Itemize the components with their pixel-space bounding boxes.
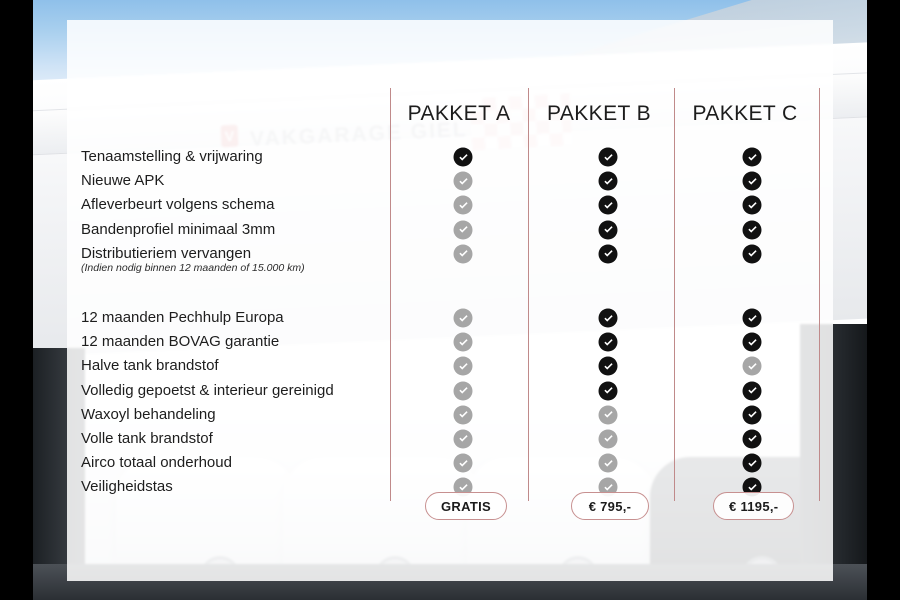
- check-circle-filled-icon: [599, 196, 618, 215]
- column-header-pakket-a: PAKKET A: [390, 102, 528, 126]
- column-header-pakket-b: PAKKET B: [530, 102, 668, 126]
- check-circle-muted-icon: [454, 172, 473, 191]
- check-circle-filled-icon: [743, 405, 762, 424]
- check-circle-muted-icon: [454, 196, 473, 215]
- check-circle-filled-icon: [743, 244, 762, 263]
- check-circle-filled-icon: [599, 244, 618, 263]
- check-circle-filled-icon: [599, 309, 618, 328]
- distributieriem-footnote: (Indien nodig binnen 12 maanden of 15.00…: [81, 262, 305, 274]
- table-row: Airco totaal onderhoud: [67, 451, 833, 475]
- table-row: Afleverbeurt volgens schema: [67, 193, 833, 217]
- check-circle-muted-icon: [454, 333, 473, 352]
- check-circle-filled-icon: [743, 220, 762, 239]
- price-row: GRATIS € 795,- € 1195,-: [67, 492, 833, 526]
- check-circle-filled-icon: [743, 333, 762, 352]
- check-circle-muted-icon: [599, 429, 618, 448]
- check-circle-filled-icon: [454, 148, 473, 167]
- feature-label: Waxoyl behandeling: [81, 403, 216, 427]
- check-circle-muted-icon: [454, 405, 473, 424]
- table-row: Volle tank brandstof: [67, 427, 833, 451]
- feature-label: 12 maanden BOVAG garantie: [81, 330, 279, 354]
- check-circle-muted-icon: [454, 220, 473, 239]
- table-row: Bandenprofiel minimaal 3mm: [67, 218, 833, 242]
- table-row: Volledig gepoetst & interieur gereinigd: [67, 379, 833, 403]
- check-circle-muted-icon: [454, 309, 473, 328]
- check-circle-muted-icon: [454, 429, 473, 448]
- table-row: 12 maanden Pechhulp Europa: [67, 306, 833, 330]
- feature-label: Volledig gepoetst & interieur gereinigd: [81, 379, 334, 403]
- price-badge-pakket-b[interactable]: € 795,-: [571, 492, 649, 520]
- check-circle-muted-icon: [599, 454, 618, 473]
- check-circle-filled-icon: [743, 172, 762, 191]
- table-header-row: PAKKET A PAKKET B PAKKET C: [67, 102, 833, 136]
- feature-footnote-row: (Indien nodig binnen 12 maanden of 15.00…: [67, 266, 833, 284]
- check-circle-filled-icon: [743, 196, 762, 215]
- table-row: Halve tank brandstof: [67, 354, 833, 378]
- feature-rows: Tenaamstelling & vrijwaringNieuwe APKAfl…: [67, 145, 833, 499]
- check-circle-filled-icon: [743, 148, 762, 167]
- check-circle-filled-icon: [743, 309, 762, 328]
- check-circle-muted-icon: [599, 405, 618, 424]
- feature-label: Bandenprofiel minimaal 3mm: [81, 218, 275, 242]
- check-circle-filled-icon: [743, 429, 762, 448]
- check-circle-filled-icon: [599, 333, 618, 352]
- price-badge-pakket-a[interactable]: GRATIS: [425, 492, 507, 520]
- check-circle-muted-icon: [454, 244, 473, 263]
- check-circle-muted-icon: [454, 381, 473, 400]
- package-comparison-card: PAKKET A PAKKET B PAKKET C Tenaamstellin…: [67, 20, 833, 581]
- check-circle-filled-icon: [599, 148, 618, 167]
- table-row: Waxoyl behandeling: [67, 403, 833, 427]
- feature-label: Tenaamstelling & vrijwaring: [81, 145, 263, 169]
- price-badge-pakket-c[interactable]: € 1195,-: [713, 492, 794, 520]
- check-circle-muted-icon: [743, 357, 762, 376]
- package-table: PAKKET A PAKKET B PAKKET C Tenaamstellin…: [67, 20, 833, 581]
- feature-label: Volle tank brandstof: [81, 427, 213, 451]
- check-circle-filled-icon: [743, 454, 762, 473]
- check-circle-filled-icon: [599, 381, 618, 400]
- check-circle-filled-icon: [599, 172, 618, 191]
- screenshot-stage: VAKGARAGE GIEL PAKKET A PAKKET B PAKKET …: [0, 0, 900, 600]
- check-circle-muted-icon: [454, 454, 473, 473]
- feature-label: Afleverbeurt volgens schema: [81, 193, 274, 217]
- check-circle-filled-icon: [743, 381, 762, 400]
- column-header-pakket-c: PAKKET C: [676, 102, 814, 126]
- check-circle-filled-icon: [599, 357, 618, 376]
- check-circle-muted-icon: [454, 357, 473, 376]
- feature-label: Nieuwe APK: [81, 169, 164, 193]
- check-circle-filled-icon: [599, 220, 618, 239]
- table-row: Tenaamstelling & vrijwaring: [67, 145, 833, 169]
- table-row: 12 maanden BOVAG garantie: [67, 330, 833, 354]
- feature-label: 12 maanden Pechhulp Europa: [81, 306, 284, 330]
- feature-label: Halve tank brandstof: [81, 354, 219, 378]
- table-row: Nieuwe APK: [67, 169, 833, 193]
- feature-label: Airco totaal onderhoud: [81, 451, 232, 475]
